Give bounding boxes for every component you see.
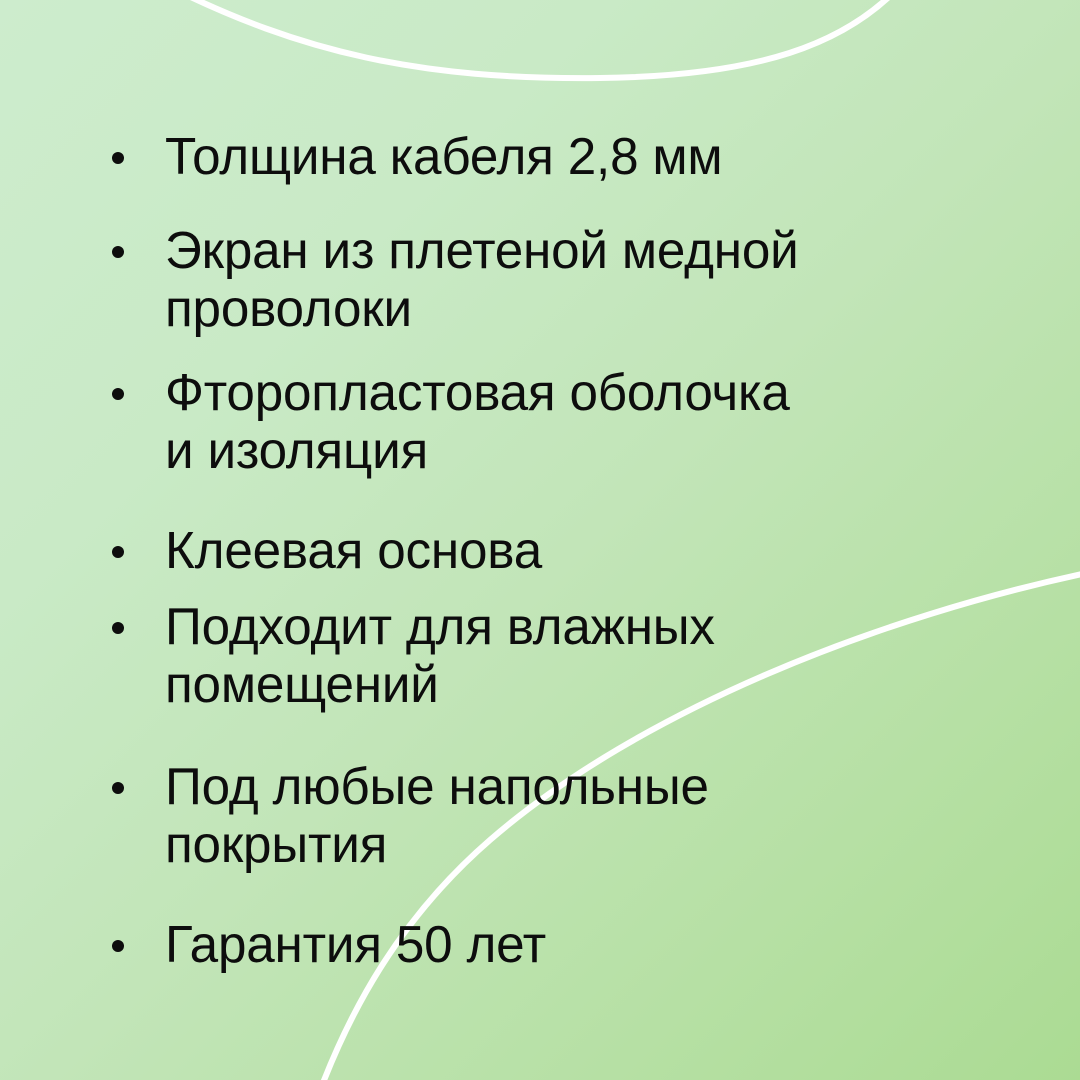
bullet-dot-icon: [112, 388, 124, 400]
list-item: Клеевая основа: [112, 522, 1012, 580]
list-item: Толщина кабеля 2,8 мм: [112, 128, 1012, 186]
list-item: Гарантия 50 лет: [112, 916, 1012, 974]
bullet-dot-icon: [112, 782, 124, 794]
list-item-label: Клеевая основа: [165, 522, 999, 580]
list-item-label: Фтороплaстовая оболочка и изоляция: [165, 364, 999, 480]
bullet-dot-icon: [112, 940, 124, 952]
list-item-label: Гарантия 50 лет: [165, 916, 999, 974]
list-item-label: Под любые напольные покрытия: [165, 758, 999, 874]
list-item: Под любые напольные покрытия: [112, 758, 1012, 874]
list-item: Фтороплaстовая оболочка и изоляция: [112, 364, 1012, 480]
slide-canvas: Толщина кабеля 2,8 мм Экран из плетеной …: [0, 0, 1080, 1080]
list-item: Экран из плетеной медной проволоки: [112, 222, 1012, 338]
list-item-label: Толщина кабеля 2,8 мм: [165, 128, 999, 186]
list-item-label: Подходит для влажных помещений: [165, 598, 999, 714]
bullet-dot-icon: [112, 152, 124, 164]
bullet-dot-icon: [112, 622, 124, 634]
list-item: Подходит для влажных помещений: [112, 598, 1012, 714]
list-item-label: Экран из плетеной медной проволоки: [165, 222, 999, 338]
bullet-dot-icon: [112, 546, 124, 558]
feature-bullet-list: Толщина кабеля 2,8 мм Экран из плетеной …: [0, 0, 1080, 1080]
bullet-dot-icon: [112, 246, 124, 258]
